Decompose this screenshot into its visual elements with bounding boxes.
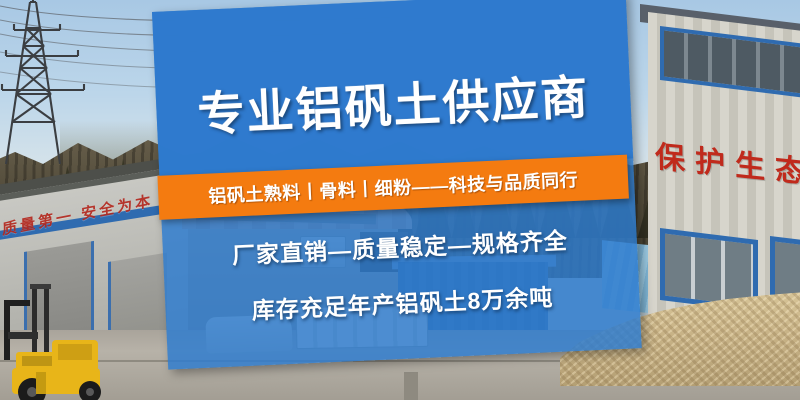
ribbon-text: 铝矾土熟料丨骨料丨细粉——科技与品质同行: [208, 166, 579, 209]
forklift-vehicle: [2, 282, 122, 400]
headline-panel: 专业铝矾土供应商 铝矾土熟料丨骨料丨细粉——科技与品质同行 厂家直销—质量稳定—…: [152, 0, 642, 370]
ground-crack: [404, 372, 418, 400]
transmission-tower-icon: [0, 0, 86, 164]
promo-banner: 质量第一 安全为本 保护生态: [0, 0, 800, 400]
